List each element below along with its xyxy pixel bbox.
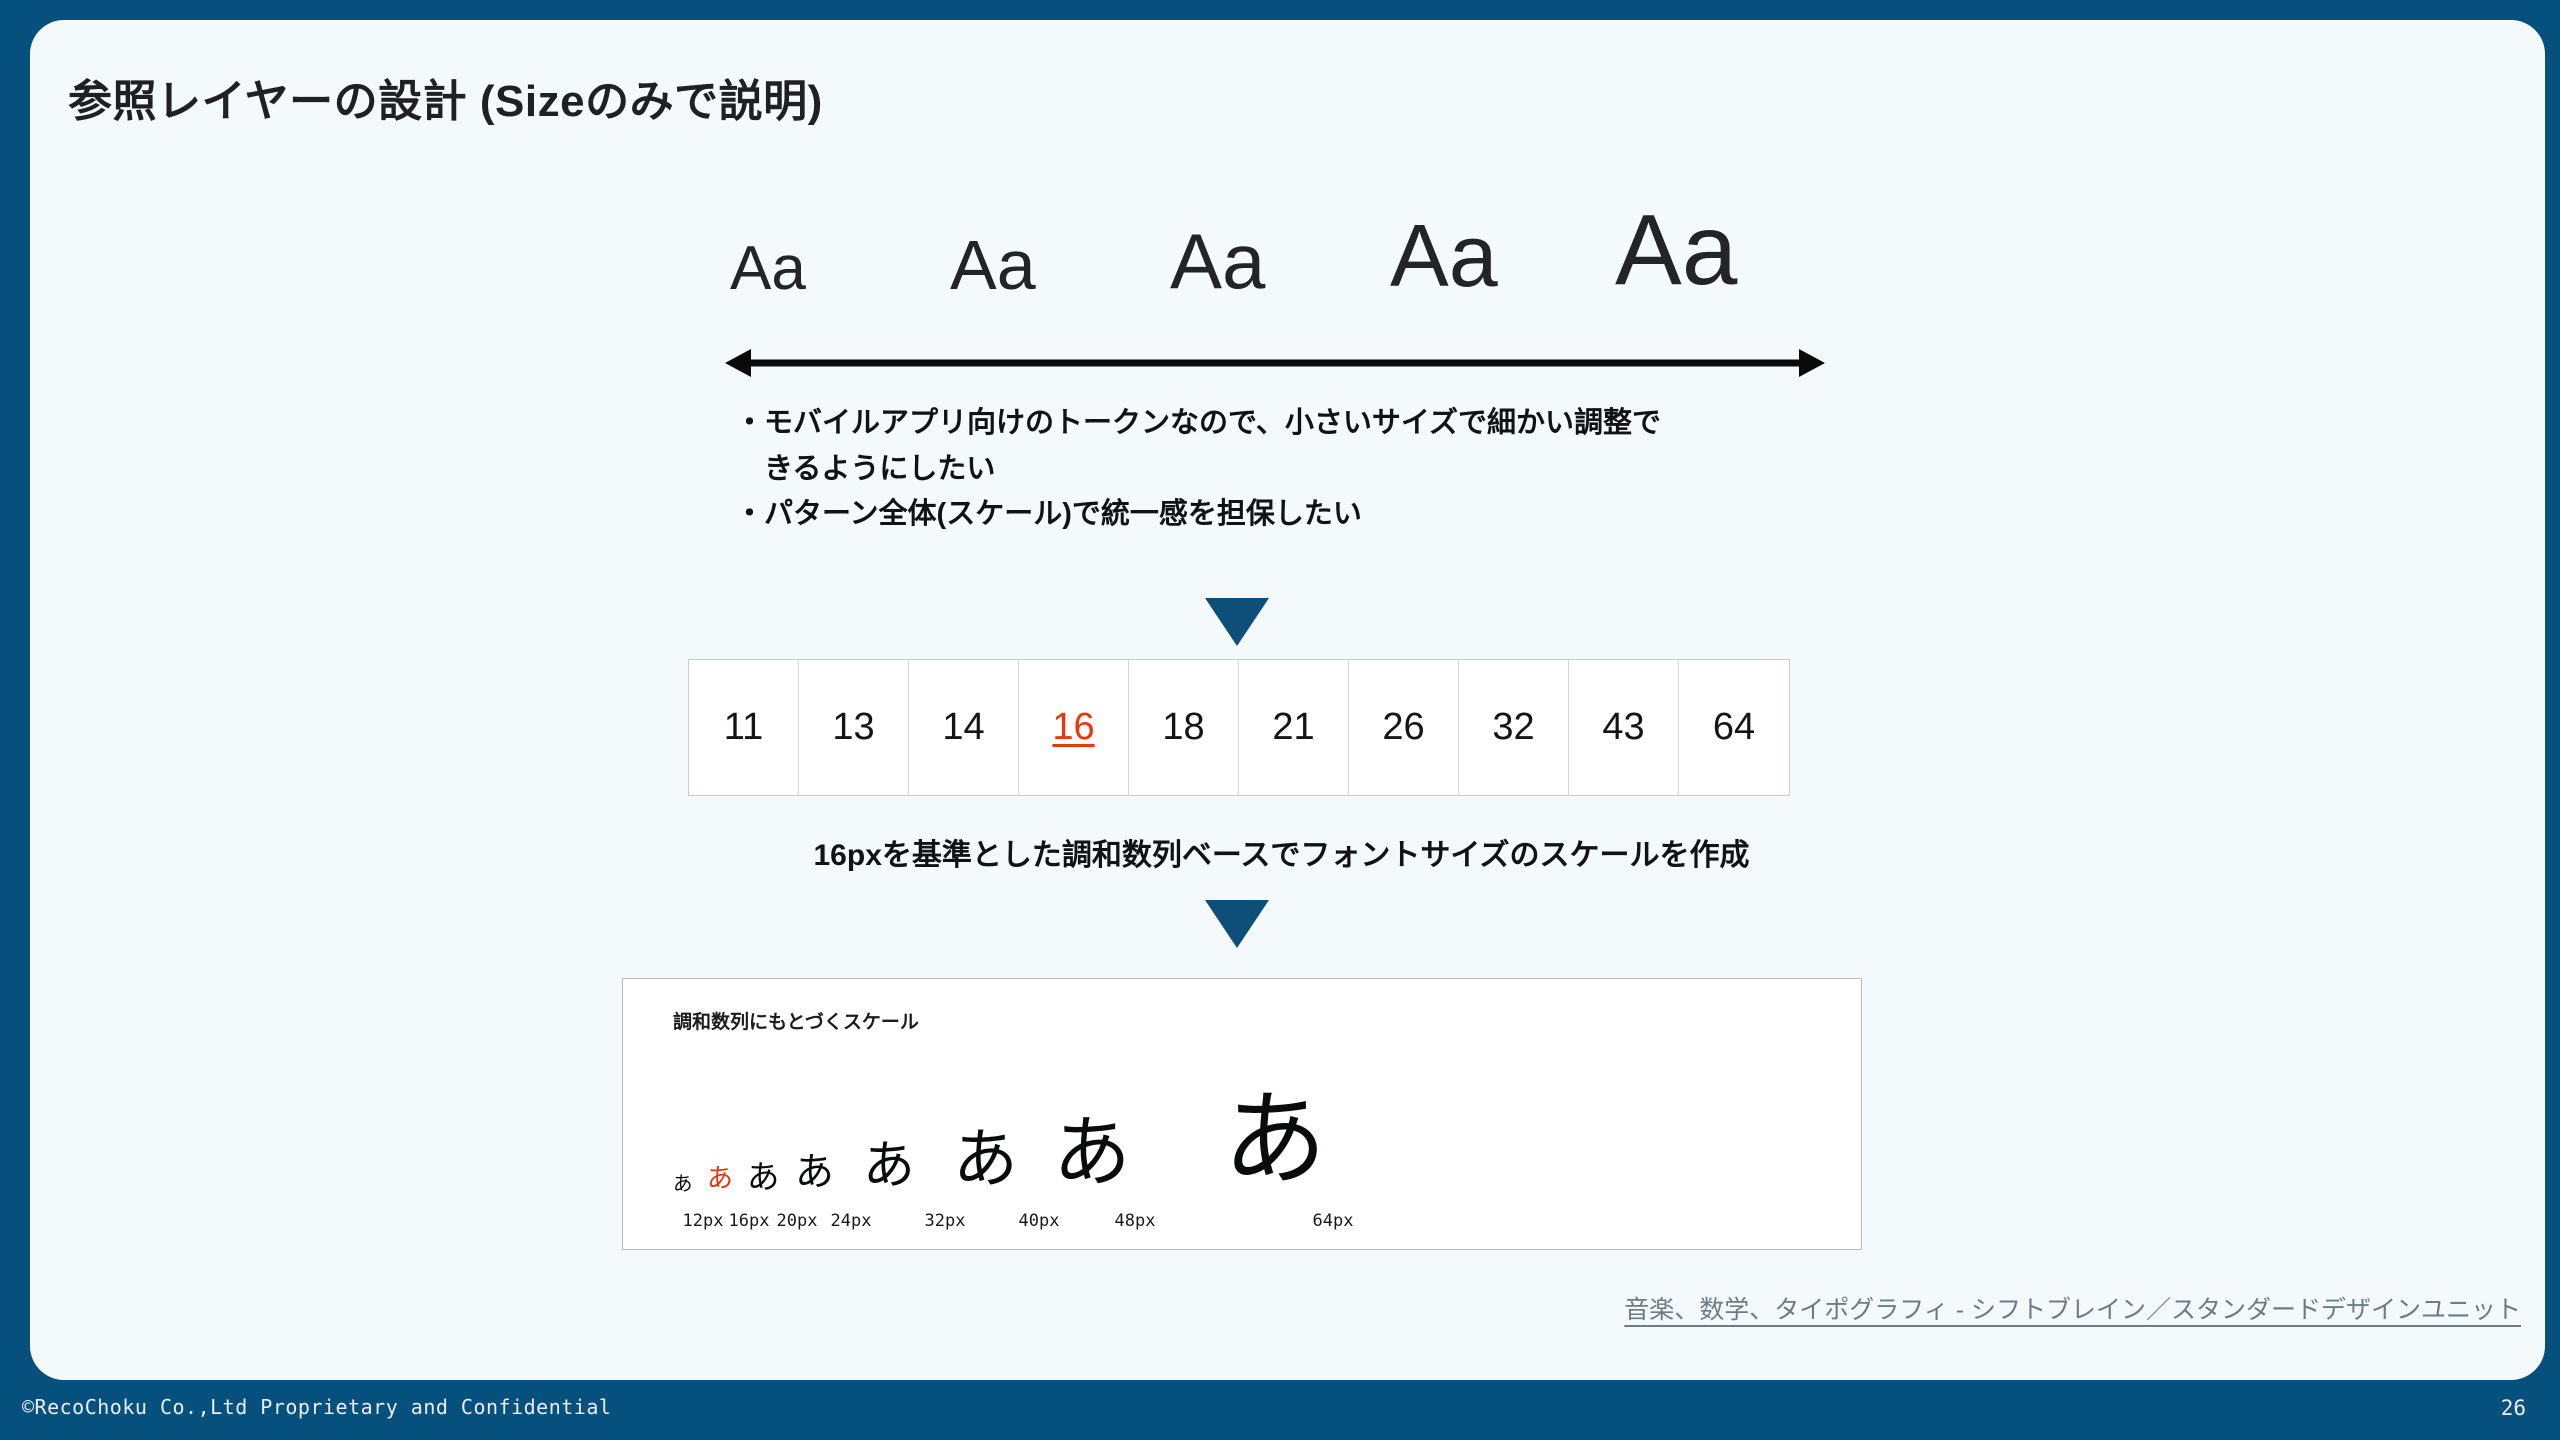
glyph-size-label: 32px xyxy=(925,1211,966,1231)
scale-cell: 26 xyxy=(1349,660,1459,795)
glyph-size-label: 24px xyxy=(831,1211,872,1231)
source-link[interactable]: 音楽、数学、タイポグラフィ - シフトブレイン／スタンダードデザインユニット xyxy=(1624,1290,2521,1326)
scale-cell: 64 xyxy=(1679,660,1789,795)
scale-cell: 14 xyxy=(909,660,1019,795)
size-range-arrow-icon xyxy=(725,345,1825,381)
scale-value-table: 11 13 14 16 18 21 26 32 43 64 xyxy=(688,659,1790,796)
glyph-specimen: あ xyxy=(673,1174,692,1193)
glyph-specimen-area: あ12pxあ16pxあ20pxあ24pxあ32pxあ40pxあ48pxあ64px xyxy=(623,979,1863,1251)
bullet-list: ・モバイルアプリ向けのトークンなので、小さいサイズで細かい調整で きるようにした… xyxy=(735,402,1855,537)
bullet-item-1b: きるようにしたい xyxy=(735,448,1855,492)
glyph-size-label: 20px xyxy=(777,1211,818,1231)
harmonic-scale-panel: 調和数列にもとづくスケール あ12pxあ16pxあ20pxあ24pxあ32pxあ… xyxy=(622,978,1862,1250)
triangle-down-icon-1 xyxy=(1205,598,1269,646)
glyph-size-label: 16px xyxy=(729,1211,770,1231)
glyph-size-label: 64px xyxy=(1313,1211,1354,1231)
size-sample-4: Aa xyxy=(1390,212,1498,300)
scale-cell: 18 xyxy=(1129,660,1239,795)
slide-root: 参照レイヤーの設計 (Sizeのみで説明) Aa Aa Aa Aa Aa ・モバ… xyxy=(0,0,2560,1440)
scale-cell: 13 xyxy=(799,660,909,795)
size-sample-1: Aa xyxy=(730,238,806,300)
scale-cell-base: 16 xyxy=(1019,660,1129,795)
glyph-specimen: あ xyxy=(795,1154,834,1193)
triangle-down-icon-2 xyxy=(1205,900,1269,948)
slide-card: 参照レイヤーの設計 (Sizeのみで説明) Aa Aa Aa Aa Aa ・モバ… xyxy=(30,20,2545,1380)
scale-cell: 11 xyxy=(689,660,799,795)
footer-page-number: 26 xyxy=(2501,1396,2526,1420)
bullet-item-2: ・パターン全体(スケール)で統一感を担保したい xyxy=(735,493,1855,537)
glyph-size-label: 12px xyxy=(683,1211,724,1231)
glyph-specimen: あ xyxy=(1053,1115,1131,1193)
glyph-specimen: あ xyxy=(953,1128,1018,1193)
size-sample-2: Aa xyxy=(950,230,1036,300)
glyph-size-label: 48px xyxy=(1115,1211,1156,1231)
size-sample-row: Aa Aa Aa Aa Aa xyxy=(700,180,1840,300)
glyph-specimen: あ xyxy=(863,1141,915,1193)
size-sample-5: Aa xyxy=(1615,200,1737,300)
bullet-item-1a: ・モバイルアプリ向けのトークンなので、小さいサイズで細かい調整で xyxy=(735,402,1855,446)
footer-copyright: ©RecoChoku Co.,Ltd Proprietary and Confi… xyxy=(22,1395,611,1419)
glyph-specimen: あ xyxy=(1223,1089,1327,1193)
size-sample-3: Aa xyxy=(1170,222,1265,300)
scale-table-caption: 16pxを基準とした調和数列ベースでフォントサイズのスケールを作成 xyxy=(30,830,2545,874)
scale-cell: 21 xyxy=(1239,660,1349,795)
glyph-specimen-base: あ xyxy=(707,1167,733,1193)
scale-table-caption-text: 16pxを基準とした調和数列ベースでフォントサイズのスケールを作成 xyxy=(814,830,1750,874)
page-title: 参照レイヤーの設計 (Sizeのみで説明) xyxy=(68,65,823,129)
scale-cell: 32 xyxy=(1459,660,1569,795)
glyph-size-label: 40px xyxy=(1019,1211,1060,1231)
glyph-specimen: あ xyxy=(747,1161,779,1193)
scale-cell: 43 xyxy=(1569,660,1679,795)
